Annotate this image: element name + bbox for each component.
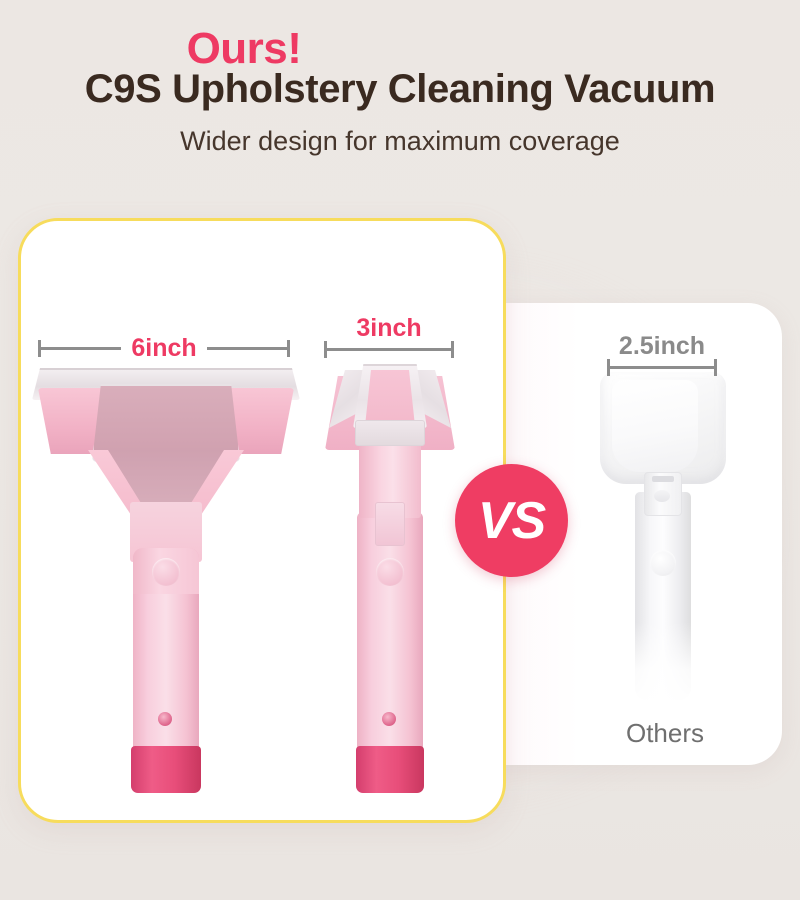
competitor-vacuum-illustration [600, 372, 726, 702]
competitor-neck-slot [652, 476, 674, 482]
dimension-ours-narrow-line [324, 348, 454, 351]
infographic-page: C9S Upholstery Cleaning Vacuum Wider des… [0, 0, 800, 900]
vs-badge: VS [455, 464, 568, 577]
page-subtitle: Wider design for maximum coverage [0, 111, 800, 157]
dimension-ours-wide-line-left [38, 347, 121, 350]
dimension-others-width: 2.5inch [607, 332, 717, 369]
ours-wide-indicator-light [158, 712, 172, 726]
ours-narrow-base [356, 746, 424, 793]
ours-vacuum-wide-illustration [30, 362, 302, 792]
dimension-ours-narrow-label: 3inch [356, 314, 421, 348]
ours-narrow-head-inner [365, 370, 415, 426]
competitor-head-inner [612, 380, 698, 472]
ours-wide-base [131, 746, 201, 793]
competitor-power-button [650, 550, 676, 576]
dimension-ours-wide-line-right [207, 347, 290, 350]
ours-wide-power-button [152, 558, 180, 586]
vs-badge-label: VS [478, 495, 545, 547]
competitor-release-button [654, 490, 670, 502]
dimension-others-label: 2.5inch [619, 332, 705, 366]
ours-narrow-latch [375, 502, 405, 546]
dimension-ours-wide-width: 6inch [38, 334, 290, 363]
ours-label: Ours! [0, 24, 488, 74]
competitor-bottom-fade [624, 622, 702, 708]
ours-vacuum-narrow-illustration [325, 362, 455, 792]
others-caption: Others [570, 718, 760, 749]
dimension-others-line [607, 366, 717, 369]
ours-narrow-power-button [376, 558, 404, 586]
dimension-ours-wide-label: 6inch [121, 334, 206, 363]
ours-narrow-indicator-light [382, 712, 396, 726]
dimension-ours-narrow-width: 3inch [324, 314, 454, 351]
ours-narrow-collar [355, 420, 425, 446]
